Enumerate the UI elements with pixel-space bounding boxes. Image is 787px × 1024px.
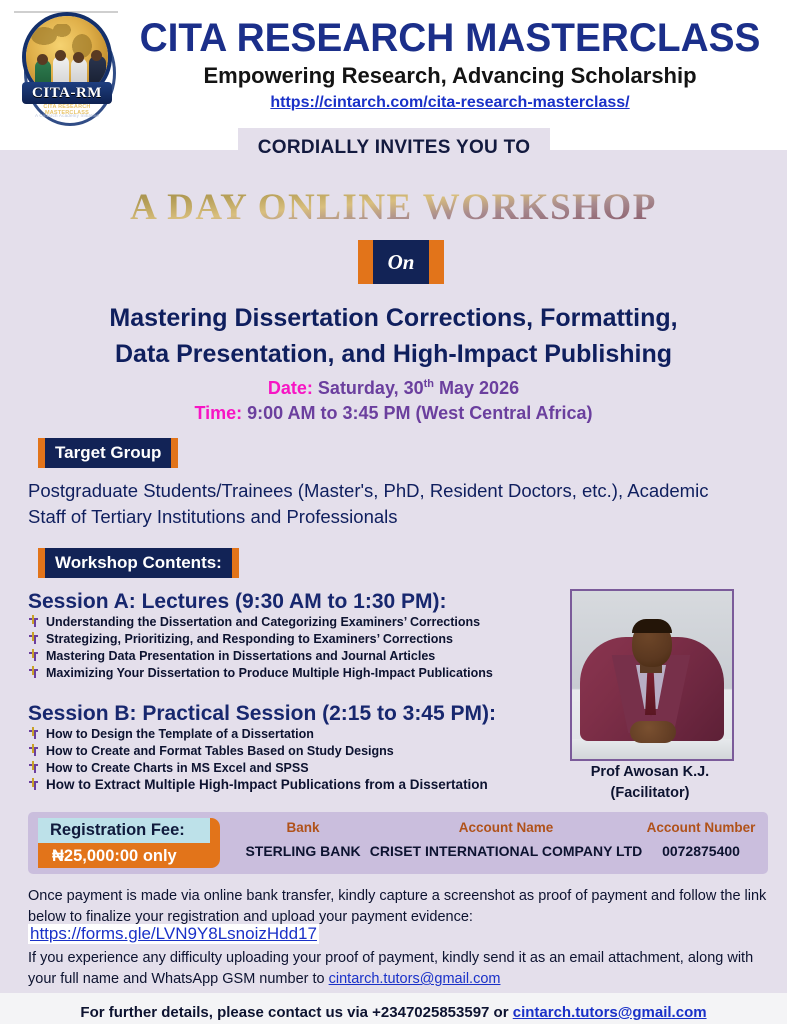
event-datetime: Date: Saturday, 30th May 2026 Time: 9:00…	[0, 372, 787, 426]
session-a-heading: Session A: Lectures (9:30 AM to 1:30 PM)…	[28, 590, 447, 614]
payment-instructions-2-line-1: If you experience any difficulty uploadi…	[28, 948, 770, 969]
logo-wordmark: CITA-RM	[22, 82, 112, 104]
date-label: Date:	[268, 378, 313, 398]
list-item: Understanding the Dissertation and Categ…	[28, 614, 548, 631]
account-name-header: Account Name	[356, 820, 656, 835]
time-label: Time:	[194, 403, 242, 423]
list-item: How to Design the Template of a Disserta…	[28, 726, 548, 743]
footer-contact-line: For further details, please contact us v…	[0, 1004, 787, 1021]
registration-band: Registration Fee: ₦25,000:00 only Bank S…	[28, 812, 768, 874]
time-value: 9:00 AM to 3:45 PM (West Central Africa)	[247, 403, 592, 423]
support-email-link[interactable]: cintarch.tutors@gmail.com	[329, 971, 501, 987]
website-link[interactable]: https://cintarch.com/cita-research-maste…	[120, 94, 780, 112]
account-name-value: CRISET INTERNATIONAL COMPANY LTD	[356, 843, 656, 859]
session-a-list: Understanding the Dissertation and Categ…	[28, 614, 548, 682]
facilitator-role: (Facilitator)	[540, 783, 760, 804]
payment-instructions-1-line-1: Once payment is made via online bank tra…	[28, 886, 770, 907]
logo-subtitle-2: A Cintarch Academy Initiative	[22, 113, 112, 118]
org-tagline: Empowering Research, Advancing Scholarsh…	[120, 63, 780, 89]
cordial-invite-text: CORDIALLY INVITES YOU TO	[238, 137, 550, 159]
account-number-header: Account Number	[626, 820, 776, 835]
facilitator-caption: Prof Awosan K.J. (Facilitator)	[540, 762, 760, 804]
footer-email-link[interactable]: cintarch.tutors@gmail.com	[513, 1004, 707, 1021]
session-b-heading: Session B: Practical Session (2:15 to 3:…	[28, 702, 496, 726]
account-number-column: Account Number 0072875400	[626, 820, 776, 859]
account-number-value: 0072875400	[626, 843, 776, 859]
target-group-chip: Target Group	[38, 438, 178, 468]
payment-instructions-1: Once payment is made via online bank tra…	[28, 886, 770, 928]
workshop-topic-line-1: Mastering Dissertation Corrections, Form…	[0, 300, 787, 336]
workshop-contents-chip-label: Workshop Contents:	[55, 553, 222, 573]
header-divider-rule	[14, 11, 118, 13]
event-date-row: Date: Saturday, 30th May 2026	[0, 372, 787, 401]
target-group-line-1: Postgraduate Students/Trainees (Master's…	[28, 478, 768, 504]
date-value: Saturday, 30th May 2026	[318, 378, 519, 398]
account-name-column: Account Name CRISET INTERNATIONAL COMPAN…	[356, 820, 656, 859]
registration-form-link[interactable]: https://forms.gle/LVN9Y8LsnoizHdd17	[28, 924, 319, 944]
payment-instructions-2: If you experience any difficulty uploadi…	[28, 948, 770, 990]
list-item: How to Create Charts in MS Excel and SPS…	[28, 760, 548, 777]
list-item: Maximizing Your Dissertation to Produce …	[28, 665, 548, 682]
page-title: CITA RESEARCH MASTERCLASS	[130, 16, 770, 61]
list-item: Strategizing, Prioritizing, and Respondi…	[28, 631, 548, 648]
registration-fee-box: Registration Fee: ₦25,000:00 only	[38, 818, 220, 868]
payment-instructions-2-line-2: your full name and WhatsApp GSM number t…	[28, 969, 770, 990]
target-group-line-2: Staff of Tertiary Institutions and Profe…	[28, 504, 768, 530]
facilitator-photo	[570, 589, 734, 761]
facilitator-name: Prof Awosan K.J.	[540, 762, 760, 783]
workshop-topic-line-2: Data Presentation, and High-Impact Publi…	[0, 336, 787, 372]
list-item: How to Create and Format Tables Based on…	[28, 743, 548, 760]
on-badge: On	[358, 240, 444, 284]
on-badge-label: On	[388, 250, 415, 275]
list-item: Mastering Data Presentation in Dissertat…	[28, 648, 548, 665]
registration-fee-amount: ₦25,000:00 only	[38, 844, 220, 868]
target-group-chip-label: Target Group	[55, 443, 161, 463]
session-b-list: How to Design the Template of a Disserta…	[28, 726, 548, 796]
cita-rm-globe-logo: CITA-RM CITA RESEARCH MASTERCLASS A Cint…	[22, 14, 112, 126]
list-item: How to Extract Multiple High-Impact Publ…	[28, 777, 548, 796]
event-time-row: Time: 9:00 AM to 3:45 PM (West Central A…	[0, 401, 787, 426]
registration-fee-label: Registration Fee:	[38, 818, 210, 843]
flyer-page: CITA-RM CITA RESEARCH MASTERCLASS A Cint…	[0, 0, 787, 1024]
target-group-body: Postgraduate Students/Trainees (Master's…	[28, 478, 768, 530]
workshop-contents-chip: Workshop Contents:	[38, 548, 239, 578]
event-title: A DAY ONLINE WORKSHOP	[0, 186, 787, 229]
workshop-topic: Mastering Dissertation Corrections, Form…	[0, 300, 787, 372]
bank-details-table: Bank STERLING BANK Account Name CRISET I…	[228, 820, 758, 868]
